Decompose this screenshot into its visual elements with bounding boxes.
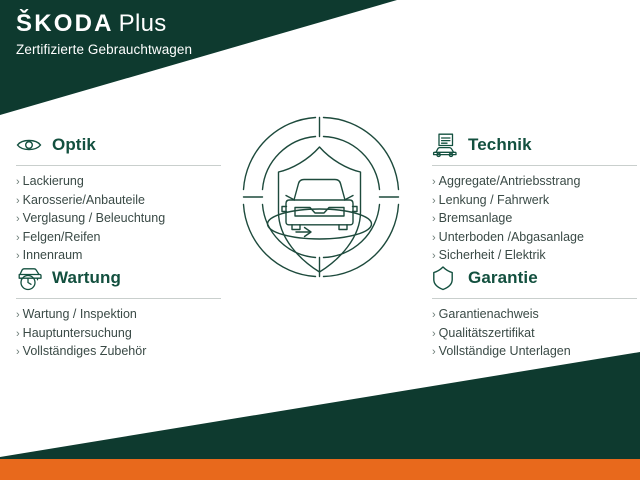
- list-item: ›Bremsanlage: [432, 210, 637, 229]
- footer-band: [0, 352, 640, 459]
- ring-connectors: [244, 118, 399, 277]
- chevron-right-icon: ›: [16, 174, 20, 192]
- section-title-technik: Technik: [468, 135, 532, 155]
- list-item: ›Aggregate/Antriebsstrang: [432, 173, 637, 192]
- brand-name: ŠKODA: [16, 10, 114, 37]
- list-item: ›Vollständiges Zubehör: [16, 343, 221, 362]
- section-optik: Optik ›Lackierung ›Karosserie/Anbauteile…: [16, 130, 221, 266]
- section-divider-wartung: [16, 298, 221, 299]
- list-item-label: Innenraum: [23, 247, 83, 265]
- list-item-label: Vollständiges Zubehör: [23, 343, 147, 361]
- list-item: ›Garantienachweis: [432, 306, 637, 325]
- list-item-label: Felgen/Reifen: [23, 229, 101, 247]
- section-header-optik: Optik: [16, 130, 221, 160]
- brand-wordmark: ŠKODAPlus: [16, 12, 192, 36]
- section-garantie: Garantie ›Garantienachweis ›Qualitätszer…: [432, 263, 637, 362]
- eye-icon: [16, 131, 46, 159]
- list-item-label: Aggregate/Antriebsstrang: [439, 173, 581, 191]
- list-item: ›Lenkung / Fahrwerk: [432, 192, 637, 211]
- list-item: ›Qualitätszertifikat: [432, 325, 637, 344]
- chevron-right-icon: ›: [432, 193, 436, 211]
- item-list-wartung: ›Wartung / Inspektion ›Hauptuntersuchung…: [16, 306, 221, 362]
- chevron-right-icon: ›: [432, 307, 436, 325]
- list-item: ›Hauptuntersuchung: [16, 325, 221, 344]
- list-item-label: Hauptuntersuchung: [23, 325, 132, 343]
- certified-vehicle-shield-emblem: [238, 112, 404, 302]
- chevron-right-icon: ›: [16, 326, 20, 344]
- chevron-right-icon: ›: [16, 344, 20, 362]
- chevron-right-icon: ›: [432, 326, 436, 344]
- car-service-clock-icon: [16, 264, 46, 292]
- chevron-right-icon: ›: [432, 211, 436, 229]
- accent-bar: [0, 459, 640, 480]
- brand-suffix: Plus: [119, 10, 167, 37]
- chevron-right-icon: ›: [16, 193, 20, 211]
- section-wartung: Wartung ›Wartung / Inspektion ›Hauptunte…: [16, 263, 221, 362]
- list-item: ›Karosserie/Anbauteile: [16, 192, 221, 211]
- section-header-garantie: Garantie: [432, 263, 637, 293]
- list-item-label: Bremsanlage: [439, 210, 513, 228]
- list-item: ›Wartung / Inspektion: [16, 306, 221, 325]
- list-item-label: Qualitätszertifikat: [439, 325, 535, 343]
- section-header-technik: Technik: [432, 130, 637, 160]
- chevron-right-icon: ›: [432, 174, 436, 192]
- list-item-label: Wartung / Inspektion: [23, 306, 137, 324]
- outer-ring: [244, 118, 399, 277]
- section-divider-technik: [432, 165, 637, 166]
- chevron-right-icon: ›: [432, 230, 436, 248]
- certificate-page: ŠKODAPlus Zertifizierte Gebrauchtwagen: [0, 0, 640, 480]
- item-list-garantie: ›Garantienachweis ›Qualitätszertifikat ›…: [432, 306, 637, 362]
- footer-title: Qualitätszertifikat: [411, 60, 622, 91]
- section-divider-garantie: [432, 298, 637, 299]
- list-item: ›Felgen/Reifen: [16, 229, 221, 248]
- list-item: ›Lackierung: [16, 173, 221, 192]
- section-divider-optik: [16, 165, 221, 166]
- list-item-label: Unterboden /Abgasanlage: [439, 229, 584, 247]
- brand-logo: ŠKODAPlus Zertifizierte Gebrauchtwagen: [16, 12, 192, 57]
- section-title-optik: Optik: [52, 135, 96, 155]
- list-item-label: Garantienachweis: [439, 306, 539, 324]
- list-item-label: Verglasung / Beleuchtung: [23, 210, 165, 228]
- brand-tagline: Zertifizierte Gebrauchtwagen: [16, 43, 192, 57]
- section-header-wartung: Wartung: [16, 263, 221, 293]
- chevron-right-icon: ›: [432, 344, 436, 362]
- list-item-label: Lackierung: [23, 173, 84, 191]
- chevron-right-icon: ›: [16, 307, 20, 325]
- list-item: ›Verglasung / Beleuchtung: [16, 210, 221, 229]
- list-item-label: Vollständige Unterlagen: [439, 343, 571, 361]
- car-document-icon: [432, 131, 462, 159]
- shield-icon: [432, 264, 462, 292]
- list-item-label: Sicherheit / Elektrik: [439, 247, 546, 265]
- list-item-label: Karosserie/Anbauteile: [23, 192, 145, 210]
- list-item-label: Lenkung / Fahrwerk: [439, 192, 549, 210]
- item-list-optik: ›Lackierung ›Karosserie/Anbauteile ›Verg…: [16, 173, 221, 266]
- chevron-right-icon: ›: [16, 230, 20, 248]
- car-front-icon: [282, 180, 357, 230]
- section-title-garantie: Garantie: [468, 268, 538, 288]
- section-title-wartung: Wartung: [52, 268, 121, 288]
- list-item: ›Unterboden /Abgasanlage: [432, 229, 637, 248]
- chevron-right-icon: ›: [16, 211, 20, 229]
- item-list-technik: ›Aggregate/Antriebsstrang ›Lenkung / Fah…: [432, 173, 637, 266]
- section-technik: Technik ›Aggregate/Antriebsstrang ›Lenku…: [432, 130, 637, 266]
